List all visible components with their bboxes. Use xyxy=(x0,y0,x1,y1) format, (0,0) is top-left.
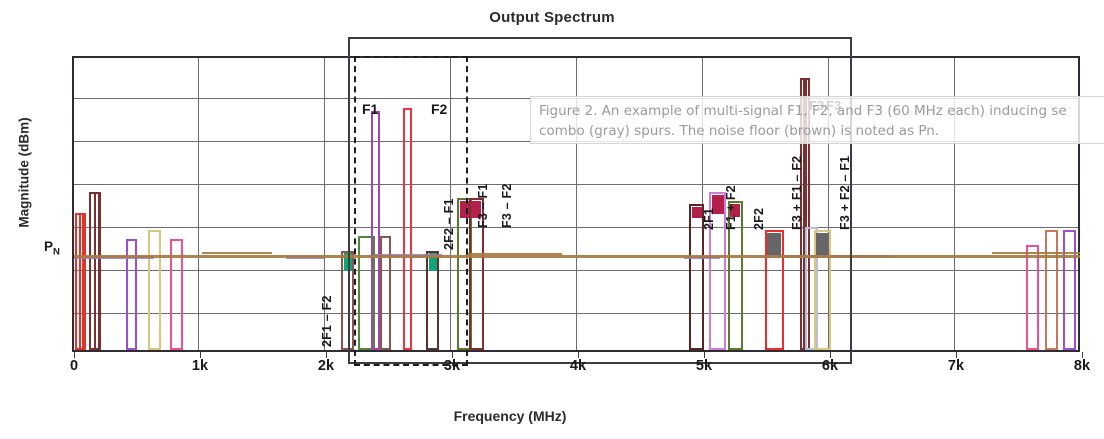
chart-title: Output Spectrum xyxy=(0,9,1104,26)
spur-label: 2F1 – F2 xyxy=(320,295,334,347)
x-tick-label: 8k xyxy=(1052,358,1104,374)
spur-label: 2F2 xyxy=(752,208,766,230)
x-tick-label: 4k xyxy=(548,358,608,374)
pn-label: PN xyxy=(44,239,60,258)
x-tick-label: 7k xyxy=(926,358,986,374)
vgridline xyxy=(198,58,199,350)
x-tick-label: 0 xyxy=(44,358,104,374)
caption-line-1: Figure 2. An example of multi-signal F1,… xyxy=(539,101,1098,121)
x-tick-label: 5k xyxy=(674,358,734,374)
spur-label: 2F2 – F1 xyxy=(442,198,456,250)
figure-caption: Figure 2. An example of multi-signal F1,… xyxy=(530,96,1104,144)
caption-line-2: combo (gray) spurs. The noise floor (bro… xyxy=(539,121,1098,141)
spectrum-bar xyxy=(1045,230,1058,350)
spectrum-bar xyxy=(1063,230,1076,350)
spectrum-bar xyxy=(79,213,86,350)
x-tick-label: 3k xyxy=(422,358,482,374)
spur-label: F3 + F1 – F2 xyxy=(790,156,804,230)
noise-floor-line xyxy=(202,252,272,254)
spectrum-bar xyxy=(94,192,101,350)
spur-label: F3 – F2 xyxy=(500,184,514,228)
spectrum-figure: Output Spectrum Magnitude (dBm) Frequenc… xyxy=(0,0,1104,439)
spectrum-bar xyxy=(148,230,161,350)
spur-label: F1 + F2 xyxy=(724,185,738,230)
noise-floor-line xyxy=(992,252,1080,254)
spur-label: 2F1 xyxy=(702,208,716,230)
spur-label: F3 + F2 – F1 xyxy=(838,156,852,230)
x-tick-label: 2k xyxy=(296,358,356,374)
f2-label: F2 xyxy=(431,101,447,117)
x-tick-label: 6k xyxy=(800,358,860,374)
x-tick-label: 1k xyxy=(170,358,230,374)
f1-label: F1 xyxy=(362,101,378,117)
y-axis-title: Magnitude (dBm) xyxy=(17,73,32,273)
x-axis-title: Frequency (MHz) xyxy=(330,408,690,424)
spur-label: F3 – F1 xyxy=(476,184,490,228)
spectrum-bar xyxy=(1026,245,1039,350)
